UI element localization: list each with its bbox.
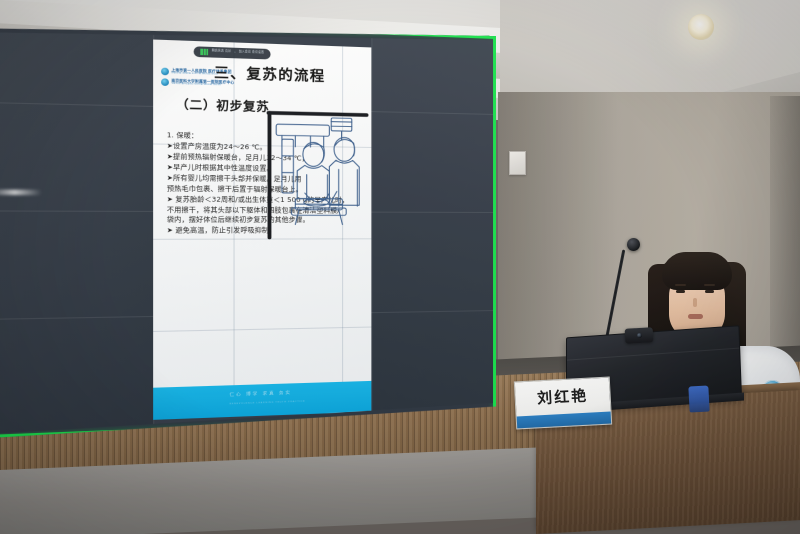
meeting-status-pill[interactable]: 网络状态 良好 • 加入会议 会议设置 (194, 46, 271, 59)
eyebrow-right (704, 284, 715, 286)
laptop-bezel-seam (567, 347, 739, 360)
slide-watermark-en: BENEVOLENCE LEARNING TRUTH PRACTICE (230, 401, 306, 406)
network-status-text: 网络状态 良好 (212, 51, 232, 54)
screen-glare (0, 190, 42, 196)
slide-title: 三、复苏的流程 (214, 61, 325, 85)
recessed-downlight-icon (688, 14, 714, 40)
slide-subtitle: （二）初步复苏 (176, 96, 269, 115)
radiant-warmer-illustration (260, 105, 371, 250)
water-bottle (688, 385, 709, 412)
eye-left (676, 290, 685, 293)
signal-bars-icon (201, 48, 209, 55)
presentation-slide[interactable]: 网络状态 良好 • 加入会议 会议设置 上海市第一人民医院 医疗体系集团 SHA… (153, 39, 371, 420)
mouth (688, 314, 703, 319)
nameplate: 刘红艳 (514, 377, 612, 430)
slide-tile-seam (153, 326, 371, 331)
eye-right (705, 290, 714, 293)
pill-separator: • (234, 51, 235, 54)
eyebrow-left (675, 284, 686, 286)
webcam-lens-icon (636, 333, 641, 338)
video-wall-letterbox-right (371, 34, 493, 420)
logo-en-text: THE FIRST AFFILIATED HOSPITAL MEDICAL CE… (171, 84, 234, 87)
video-wall-letterbox-left (0, 19, 153, 436)
wall-control-panel[interactable] (509, 151, 526, 175)
video-wall-surface: 网络状态 良好 • 加入会议 会议设置 上海市第一人民医院 医疗体系集团 SHA… (0, 19, 493, 436)
hospital-logo-icon (161, 68, 169, 76)
hair-front (662, 252, 732, 290)
nameplate-name-text: 刘红艳 (515, 384, 610, 410)
lecture-hall-scene: 网络状态 良好 • 加入会议 会议设置 上海市第一人民医院 医疗体系集团 SHA… (0, 0, 800, 534)
clip-on-webcam[interactable] (625, 327, 654, 343)
nameplate-body: 刘红艳 (514, 377, 612, 430)
video-wall-display[interactable]: 网络状态 良好 • 加入会议 会议设置 上海市第一人民医院 医疗体系集团 SHA… (0, 15, 496, 439)
meeting-actions-text: 加入会议 会议设置 (239, 52, 264, 56)
microphone-head-icon (627, 238, 640, 251)
slide-watermark: 仁心 博学 求真 务实 (230, 390, 292, 398)
nose (693, 298, 697, 307)
university-logo-icon (161, 79, 169, 87)
